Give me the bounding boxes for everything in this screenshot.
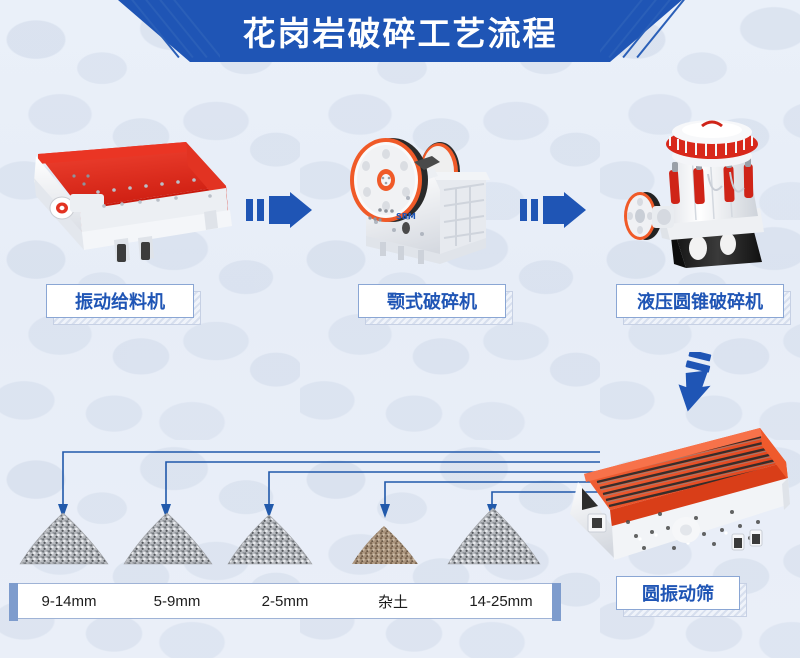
label-vibrating-screen: 圆振动筛: [616, 576, 740, 610]
svg-text:SBM: SBM: [396, 212, 416, 221]
size-cell-4: 杂土: [339, 591, 447, 612]
output-pile-2: [122, 508, 214, 566]
arrow-right-icon-1: [246, 192, 312, 228]
arrow-down-icon-3: [672, 352, 718, 414]
output-pile-3: [226, 510, 314, 566]
arrow-right-icon-2: [520, 192, 586, 228]
page-title: 花岗岩破碎工艺流程: [0, 0, 800, 62]
circular-vibrating-screen-machine: [564, 418, 796, 568]
label-cone-crusher: 液压圆锥破碎机: [616, 284, 784, 318]
page-header: 花岗岩破碎工艺流程: [0, 0, 800, 68]
size-cell-1: 9-14mm: [15, 593, 123, 610]
output-pile-1: [18, 508, 110, 566]
size-cell-2: 5-9mm: [123, 593, 231, 610]
vibrating-feeder-machine: [18, 132, 240, 262]
output-size-table: 9-14mm 5-9mm 2-5mm 杂土 14-25mm: [14, 583, 556, 619]
hydraulic-cone-crusher-machine: [612, 112, 788, 272]
jaw-crusher-machine: SBM: [336, 118, 516, 266]
label-vibrating-feeder: 振动给料机: [46, 284, 194, 318]
output-pile-4: [350, 522, 420, 566]
label-jaw-crusher: 颚式破碎机: [358, 284, 506, 318]
size-cell-5: 14-25mm: [447, 593, 555, 610]
size-cell-3: 2-5mm: [231, 593, 339, 610]
output-pile-5: [446, 504, 542, 566]
